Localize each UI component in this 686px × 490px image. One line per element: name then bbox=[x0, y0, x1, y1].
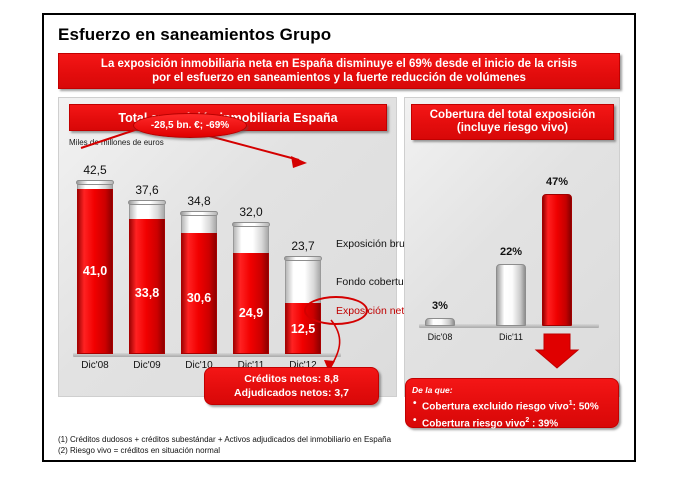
cobertura-excluido-riesgo-vivo-item: Cobertura excluido riesgo vivo1: 50% bbox=[422, 397, 599, 414]
bar-value-label: 47% bbox=[546, 176, 568, 188]
bar-cobertura-dic12: 47% bbox=[542, 194, 572, 326]
cobertura-riesgo-vivo-item: Cobertura riesgo vivo2 : 39% bbox=[422, 414, 599, 431]
page-title: Esfuerzo en saneamientos Grupo bbox=[58, 25, 331, 45]
adjudicados-netos-line: Adjudicados netos: 3,7 bbox=[234, 386, 349, 400]
headline-banner: La exposición inmobiliaria neta en Españ… bbox=[58, 53, 620, 89]
cobertura-riesgo-value: : 39% bbox=[529, 419, 558, 430]
xaxis-label-dic08: Dic'08 bbox=[428, 332, 453, 342]
chart-total-exposicion: 41,0 42,5 Dic'08 33,8 37,6 Dic'09 bbox=[59, 98, 398, 398]
slide-frame: Esfuerzo en saneamientos Grupo La exposi… bbox=[42, 13, 636, 462]
bar-cap-icon bbox=[76, 180, 114, 185]
xaxis-label-dic11: Dic'11 bbox=[499, 332, 523, 342]
footnote-1: (1) Créditos dudosos + créditos subestán… bbox=[58, 434, 391, 445]
bar-total-label: 37,6 bbox=[135, 183, 158, 197]
de-la-que-box: De la que: Cobertura excluido riesgo viv… bbox=[405, 378, 619, 428]
bar-segment-neta bbox=[233, 253, 269, 354]
xaxis-label-dic12: Dic'12 bbox=[545, 332, 570, 342]
xaxis-label-dic08: Dic'08 bbox=[81, 360, 108, 371]
cobertura-excluido-value: : 50% bbox=[573, 401, 599, 412]
footnote-2: (2) Riesgo vivo = créditos en situación … bbox=[58, 445, 391, 456]
bar-value-label: 12,5 bbox=[291, 322, 315, 336]
bar-group-dic11: 24,9 32,0 bbox=[233, 224, 269, 354]
bar-value-label: 41,0 bbox=[83, 264, 107, 278]
creditos-netos-line: Créditos netos: 8,8 bbox=[244, 372, 339, 386]
panel-cobertura: Cobertura del total exposición (incluye … bbox=[404, 97, 620, 397]
legend-exposicion-bruta: Exposición bruta bbox=[336, 238, 414, 250]
bar-cap-icon bbox=[284, 256, 322, 261]
bar-total-label: 34,8 bbox=[187, 194, 210, 208]
bar-total-label: 23,7 bbox=[291, 239, 314, 253]
bar-total-label: 42,5 bbox=[83, 163, 106, 177]
bar-value-label: 22% bbox=[500, 246, 522, 258]
bar-group-dic10: 30,6 34,8 bbox=[181, 213, 217, 354]
chart-cobertura: 3% Dic'08 22% Dic'11 47% Dic'12 bbox=[405, 98, 621, 398]
bar-segment-fondo bbox=[181, 213, 217, 234]
bar-segment-fondo bbox=[285, 258, 321, 304]
bar-value-label: 30,6 bbox=[187, 291, 211, 305]
bar-group-dic09: 33,8 37,6 bbox=[129, 202, 165, 354]
bar-segment-fondo bbox=[233, 224, 269, 254]
xaxis-label-dic09: Dic'09 bbox=[133, 360, 160, 371]
cobertura-excluido-text: Cobertura excluido riesgo vivo bbox=[422, 401, 569, 412]
panel-total-exposicion: Total exposición inmobiliaria España Mil… bbox=[58, 97, 397, 397]
creditos-netos-box: Créditos netos: 8,8 Adjudicados netos: 3… bbox=[204, 367, 379, 405]
bar-cobertura-dic08: 3% bbox=[425, 318, 455, 326]
legend-exposicion-neta: Exposición neta bbox=[336, 305, 410, 317]
bar-total-label: 32,0 bbox=[239, 205, 262, 219]
footnotes: (1) Créditos dudosos + créditos subestán… bbox=[58, 434, 391, 456]
bar-value-label: 24,9 bbox=[239, 306, 263, 320]
bar-cap-icon bbox=[128, 200, 166, 205]
headline-line-1: La exposición inmobiliaria neta en Españ… bbox=[101, 57, 577, 71]
bar-cap-icon bbox=[180, 211, 218, 216]
de-la-que-heading: De la que: bbox=[412, 383, 453, 397]
callout-bubble: -28,5 bn. €; -69% bbox=[133, 113, 247, 138]
bar-group-dic08: 41,0 42,5 bbox=[77, 182, 113, 354]
cobertura-riesgo-text: Cobertura riesgo vivo bbox=[422, 419, 525, 430]
bar-value-label: 3% bbox=[432, 300, 448, 312]
bar-cobertura-dic11: 22% bbox=[496, 264, 526, 326]
headline-line-2: por el esfuerzo en saneamientos y la fue… bbox=[101, 71, 577, 85]
bar-cap-icon bbox=[232, 222, 270, 227]
bar-value-label: 33,8 bbox=[135, 286, 159, 300]
